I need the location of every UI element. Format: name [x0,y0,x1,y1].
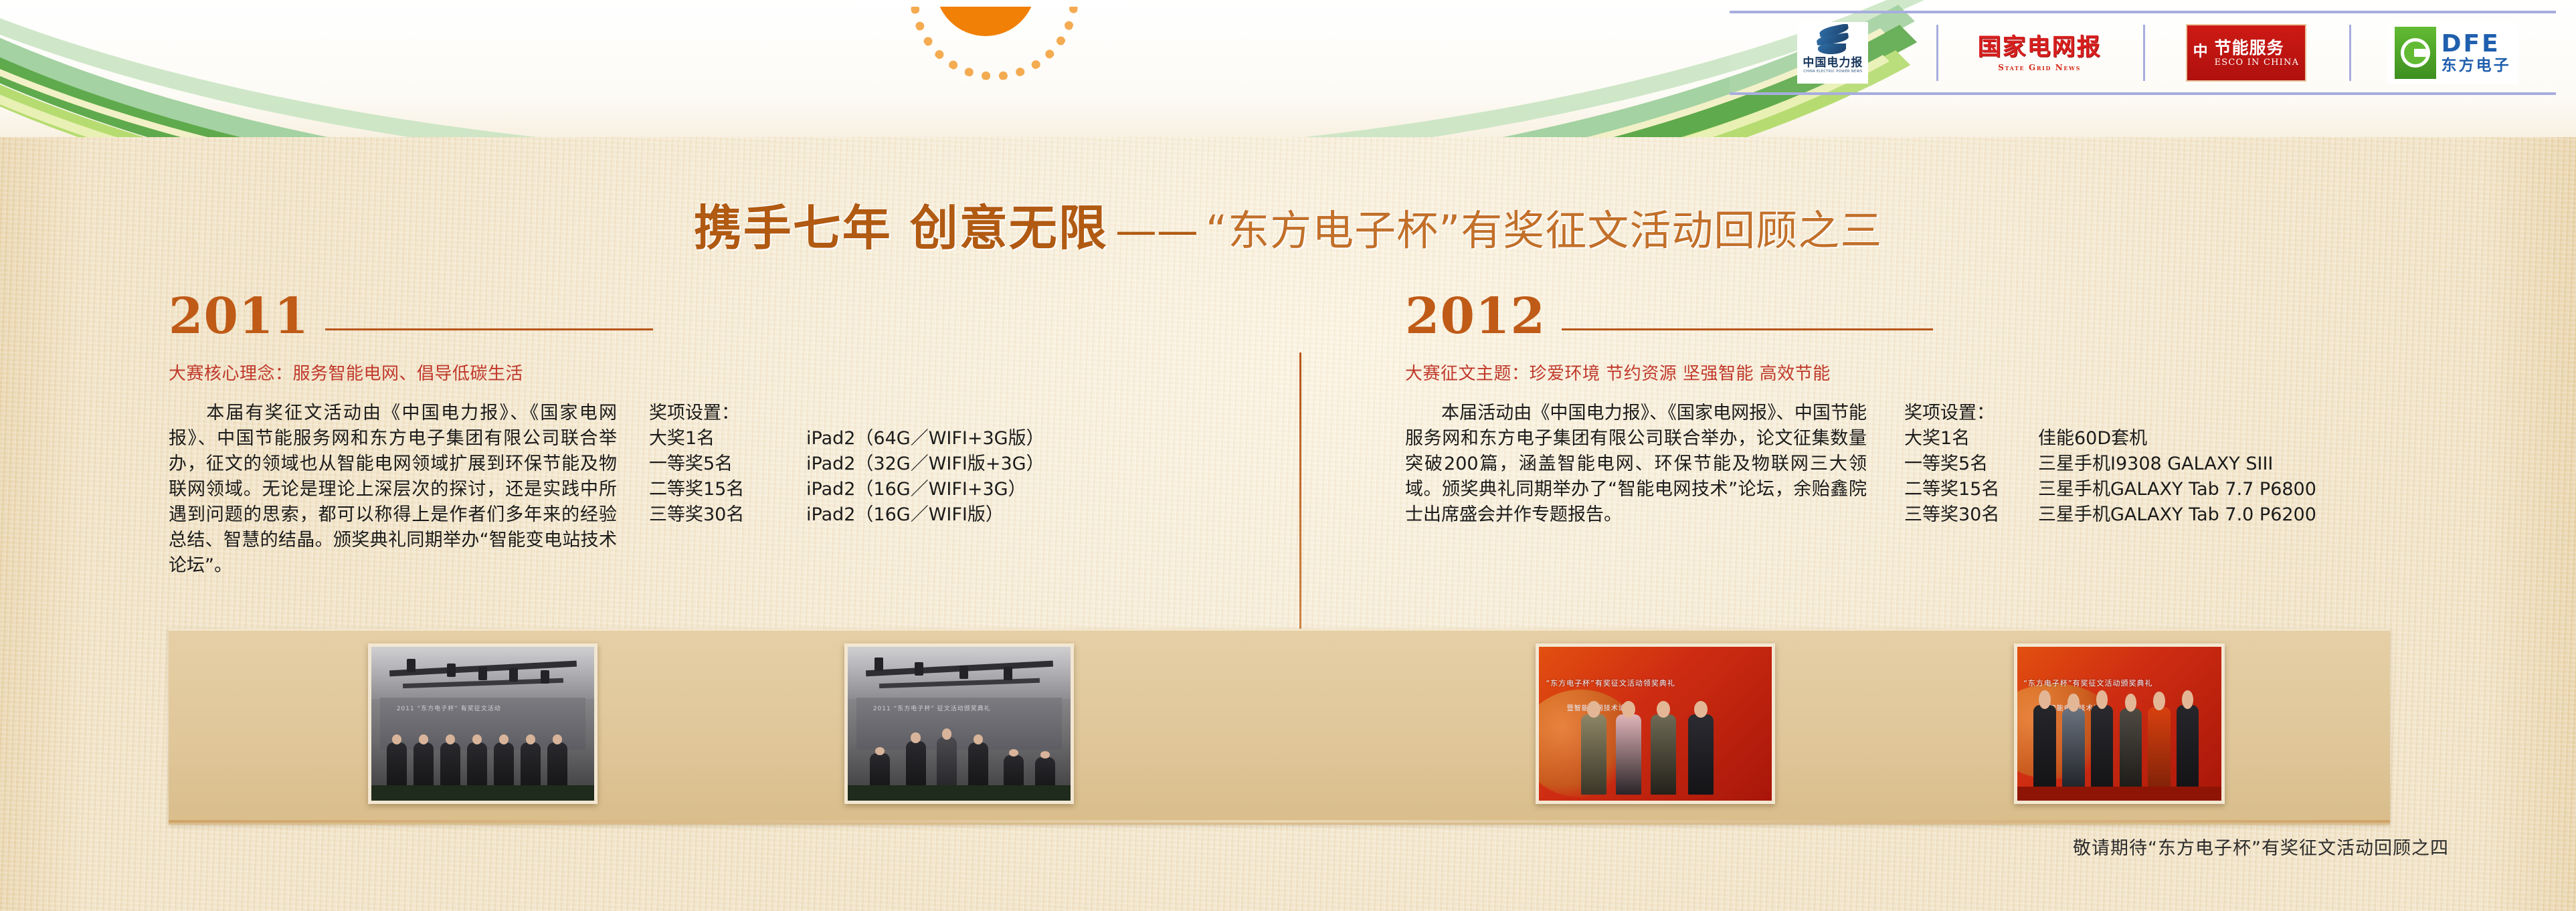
column-paragraph: 本届有奖征文活动由《中国电力报》、《国家电网报》、中国节能服务网和东方电子集团有… [169,401,617,579]
dfe-label-cn: 东方电子 [2442,57,2511,74]
logo-dfe[interactable]: DFE 东方电子 [2349,23,2556,82]
year-label: 2012 [1405,296,1546,337]
logo-esco-in-china[interactable]: 中 节能服务 ESCO IN CHINA [2143,23,2350,82]
cepn-mark-icon [1814,24,1851,56]
prize-row: 大奖1名 iPad2（64G／WIFI+3G版） [649,426,1044,451]
cepn-label-cn: 中国电力报 [1803,57,1863,70]
prize-rank: 一等奖5名 [1904,451,2038,477]
sgn-label-en: State Grid News [1998,63,2081,72]
photo-backdrop-caption: “东方电子杯”有奖征文活动颁奖典礼 [2023,678,2215,688]
esco-label-en: ESCO IN CHINA [2215,58,2300,68]
year-heading-2011: 2011 [169,288,1145,337]
column-paragraph-text: 本届活动由《中国电力报》、《国家电网报》、中国节能服务网和东方电子集团有限公司联… [1405,403,1867,525]
year-label: 2011 [169,296,309,337]
page-title-sub: “东方电子杯”有奖征文活动回顾之三 [1206,206,1882,255]
prize-rank: 大奖1名 [649,426,806,451]
photo-2011-ceremony-group[interactable]: 2011 “东方电子杯” 有奖征文活动 [368,643,597,804]
dfe-label-en: DFE [2442,31,2500,57]
prize-rank: 三等奖30名 [1904,502,2038,528]
prize-row: 三等奖30名 三星手机GALAXY Tab 7.0 P6200 [1904,502,2316,528]
photo-2012-award-presentation[interactable]: “东方电子杯”有奖征文活动领奖典礼 暨智能电网技术论坛 [1536,643,1775,804]
prize-award: iPad2（16G／WIFI版） [806,502,1004,528]
column-subtitle: 大赛征文主题：珍爱环境 节约资源 坚强智能 高效节能 [1405,360,2389,385]
esco-mark-char: 中 [2193,39,2208,61]
cepn-label-en: CHINA ELECTRIC POWER NEWS [1803,70,1862,74]
prize-row: 一等奖5名 iPad2（32G／WIFI版+3G） [649,451,1044,477]
footer-note: 敬请期待“东方电子杯”有奖征文活动回顾之四 [2073,833,2449,859]
prize-award: 三星手机GALAXY Tab 7.7 P6800 [2038,477,2316,502]
prize-rank: 三等奖30名 [649,502,806,528]
esco-mark-icon: 中 [2193,39,2211,66]
photo-2011-forum-stage[interactable]: 2011 “东方电子杯” 征文活动颁奖典礼 [844,643,1074,804]
prize-list-2011: 奖项设置： 大奖1名 iPad2（64G／WIFI+3G版） 一等奖5名 iPa… [649,401,1044,579]
prize-award: 三星手机I9308 GALAXY SIII [2038,451,2273,477]
prize-list-heading: 奖项设置： [649,401,1044,426]
prize-row: 二等奖15名 iPad2（16G／WIFI+3G） [649,477,1044,502]
column-2012: 2012 大赛征文主题：珍爱环境 节约资源 坚强智能 高效节能 本届活动由《中国… [1405,288,2389,528]
prize-rank: 大奖1名 [1904,426,2038,451]
column-paragraph-text: 本届有奖征文活动由《中国电力报》、《国家电网报》、中国节能服务网和东方电子集团有… [169,403,617,576]
photo-backdrop-caption: “东方电子杯”有奖征文活动领奖典礼 [1546,678,1764,688]
page-title-main: 携手七年 创意无限 [694,200,1108,256]
prize-row: 大奖1名 佳能60D套机 [1904,426,2316,451]
sun-top-mask [856,0,1124,7]
column-2011: 2011 大赛核心理念：服务智能电网、倡导低碳生活 本届有奖征文活动由《中国电力… [169,288,1145,579]
esco-label-cn: 节能服务 [2215,39,2300,58]
page-title: 携手七年 创意无限 —— “东方电子杯”有奖征文活动回顾之三 [0,189,2576,259]
prize-list-2012: 奖项设置： 大奖1名 佳能60D套机 一等奖5名 三星手机I9308 GALAX… [1904,401,2316,528]
column-paragraph: 本届活动由《中国电力报》、《国家电网报》、中国节能服务网和东方电子集团有限公司联… [1405,401,1867,528]
prize-award: iPad2（32G／WIFI版+3G） [806,451,1044,477]
prize-list-heading: 奖项设置： [1904,401,2316,426]
prize-row: 二等奖15名 三星手机GALAXY Tab 7.7 P6800 [1904,477,2316,502]
prize-award: 佳能60D套机 [2038,426,2147,451]
logo-state-grid-news[interactable]: 国家电网报 State Grid News [1936,23,2143,82]
sponsor-logo-bar: 中国电力报 CHINA ELECTRIC POWER NEWS 国家电网报 St… [1730,11,2556,95]
photo-strip-rule [169,820,2390,823]
prize-award: iPad2（16G／WIFI+3G） [806,477,1026,502]
photo-2012-group-winners[interactable]: “东方电子杯”有奖征文活动颁奖典礼 暨智能电网技术论坛 [2014,643,2225,804]
prize-award: iPad2（64G／WIFI+3G版） [806,426,1044,451]
page-title-dash: —— [1111,206,1202,255]
prize-rank: 二等奖15名 [1904,477,2038,502]
logo-china-electric-power-news[interactable]: 中国电力报 CHINA ELECTRIC POWER NEWS [1730,23,1936,82]
dfe-mark-icon [2395,27,2436,79]
column-divider [1299,352,1301,664]
prize-row: 三等奖30名 iPad2（16G／WIFI版） [649,502,1044,528]
prize-rank: 二等奖15名 [649,477,806,502]
sgn-label-cn: 国家电网报 [1978,34,2102,61]
year-rule [325,328,653,330]
prize-award: 三星手机GALAXY Tab 7.0 P6200 [2038,502,2316,528]
column-subtitle: 大赛核心理念：服务智能电网、倡导低碳生活 [169,360,1145,385]
year-heading-2012: 2012 [1405,288,2389,337]
year-rule [1562,328,1933,330]
prize-row: 一等奖5名 三星手机I9308 GALAXY SIII [1904,451,2316,477]
prize-rank: 一等奖5名 [649,451,806,477]
